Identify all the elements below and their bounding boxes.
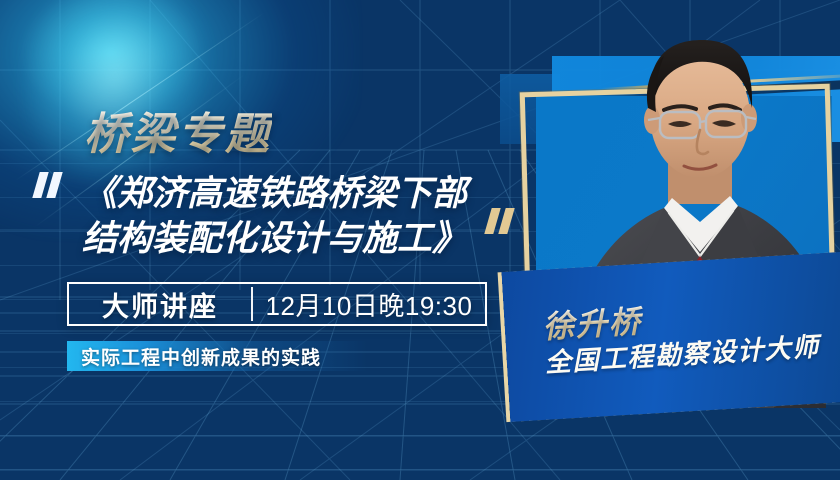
speaker-nameplate-text: 徐升桥 全国工程勘察设计大师 (502, 251, 840, 421)
lecture-badge-category-label: 大师讲座 (102, 285, 218, 324)
subtitle-bar: 实际工程中创新成果的实践 (67, 341, 367, 371)
topic-label: 桥梁专题 (84, 98, 272, 162)
subtitle-label: 实际工程中创新成果的实践 (67, 343, 321, 370)
lecture-badge-datetime: 12月10日晚19:30 (253, 284, 485, 324)
lecture-title-line2: 结构装配化设计与施工》 (82, 217, 502, 262)
lecture-badge-category: 大师讲座 (69, 284, 251, 324)
open-quote-icon (36, 172, 64, 198)
lecture-badge-divider (251, 287, 253, 321)
close-quote-icon (488, 208, 516, 234)
lecture-badge-datetime-label: 12月10日晚19:30 (266, 286, 473, 323)
lecture-title: 《郑济高速铁路桥梁下部 结构装配化设计与施工》 (82, 172, 502, 262)
poster-canvas: 徐升桥 全国工程勘察设计大师 桥梁专题 《郑济高速铁路桥梁下部 结构装配化设计与… (0, 0, 840, 480)
lecture-badge: 大师讲座 12月10日晚19:30 (67, 282, 487, 326)
lecture-title-line1: 《郑济高速铁路桥梁下部 (82, 172, 502, 217)
